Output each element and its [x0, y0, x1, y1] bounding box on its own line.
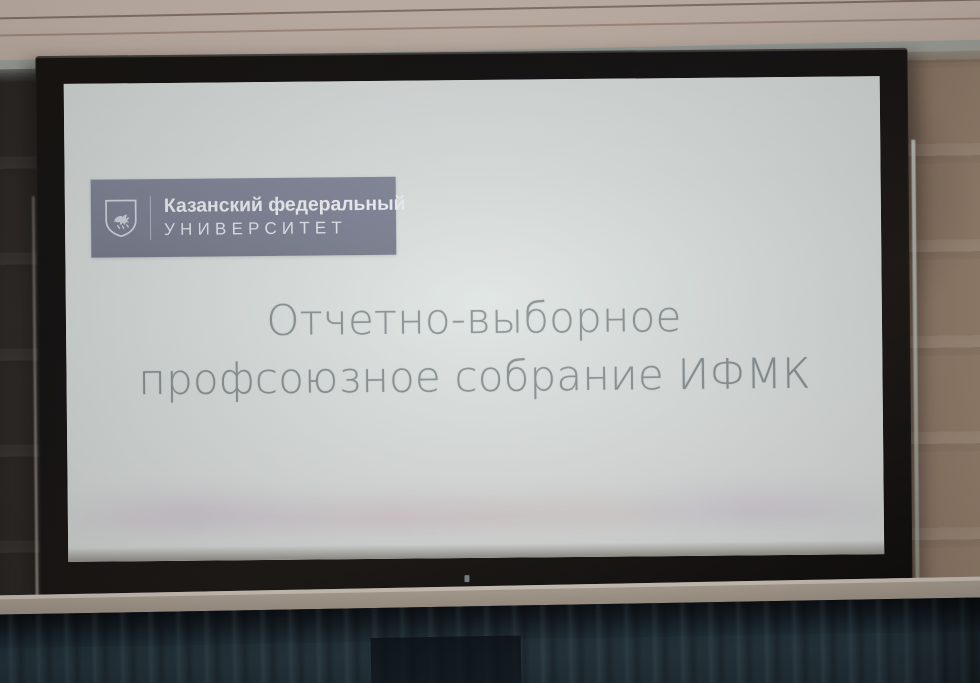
wall-mounted-tv[interactable]: Казанский федеральный УНИВЕРСИТЕТ Отчетн… — [35, 48, 912, 598]
tv-power-led-indicator — [464, 575, 469, 582]
tv-screen[interactable]: Казанский федеральный УНИВЕРСИТЕТ Отчетн… — [64, 76, 885, 562]
curtain-gap — [370, 635, 521, 683]
room-photo-scene: Казанский федеральный УНИВЕРСИТЕТ Отчетн… — [0, 0, 980, 683]
curtain-right-shadow — [888, 597, 980, 683]
screen-vignette — [64, 76, 885, 562]
